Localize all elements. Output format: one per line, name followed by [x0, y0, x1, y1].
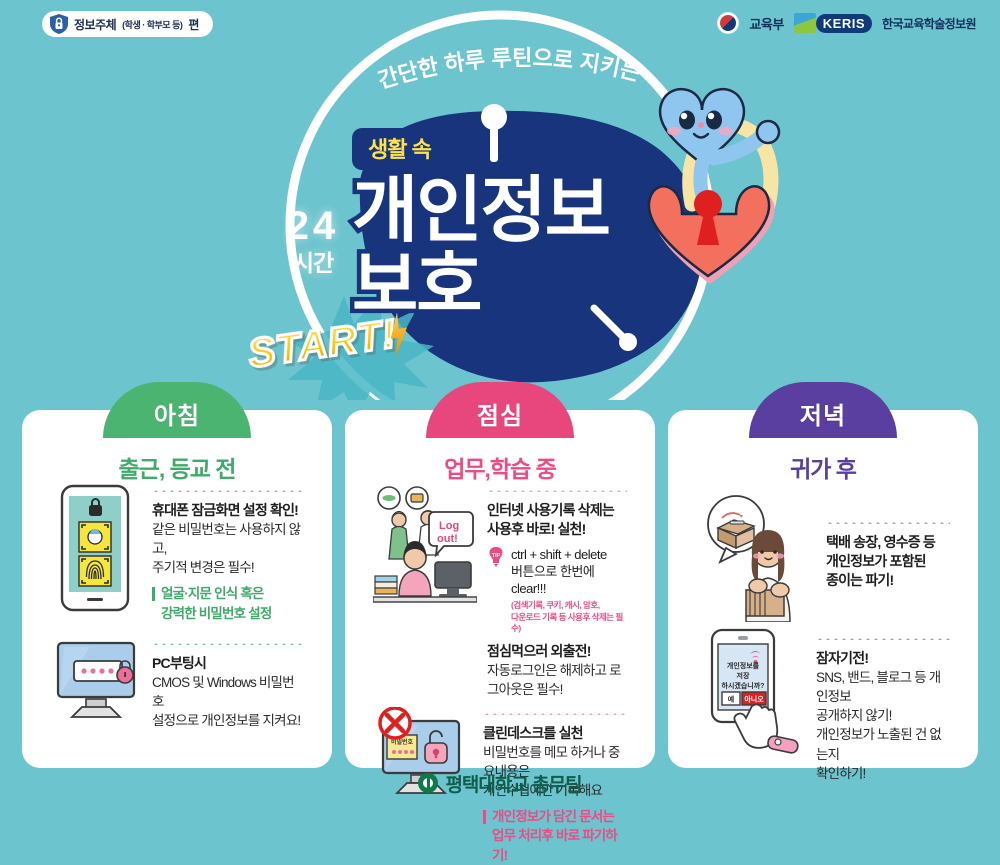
keris-logo: KERIS [794, 13, 872, 33]
svg-text:TIP: TIP [492, 553, 501, 559]
phone-save-dialog-icon: 개인정보를 저장 하시겠습니까? 예 아니오 [696, 628, 806, 783]
subject-pill: 정보주체 (학생 · 학부모 등) 편 [42, 11, 213, 37]
card-lunch-subtitle: 업무,학습 중 [345, 450, 655, 484]
ptu-emblem-icon [418, 773, 438, 793]
card-evening-body-2c: 개인정보가 노출된 건 없는지 [816, 725, 950, 763]
card-evening-block-1: 택배 송장, 영수증 등 개인정보가 포함된 종이는 파기! [668, 494, 978, 622]
card-lunch-headline-2: 점심먹으러 외출전! [487, 642, 627, 661]
card-evening-headline-2: 잠자기전! [816, 649, 950, 668]
svg-text:Log: Log [439, 520, 459, 532]
card-morning-body-1a: 같은 비밀번호는 사용하지 않고, [152, 520, 304, 558]
hero-tag: 생활 속 [352, 128, 447, 170]
card-evening-body-1c: 종이는 파기! [826, 571, 950, 590]
card-morning-note-1: 얼굴·지문 인식 혹은 강력한 비밀번호 설정 [152, 584, 304, 622]
card-morning: 아침 출근, 등교 전 [22, 410, 332, 768]
footer-label: 평택대학교 총무팀 [445, 770, 581, 797]
card-lunch-note-b: 업무 처리후 바로 파기하기! [492, 828, 617, 862]
card-morning-body-1b: 주기적 변경은 필수! [152, 558, 304, 577]
divider-dots [152, 643, 304, 645]
card-lunch-note-a: 개인정보가 담긴 문서는 [492, 809, 614, 824]
cards-section: 아침 출근, 등교 전 [0, 398, 1000, 766]
card-lunch: 점심 업무,학습 중 [345, 410, 655, 768]
svg-text:out!: out! [437, 533, 458, 545]
tip-small-1: (검색기록, 쿠키, 캐시, 암호, [511, 600, 600, 610]
shield-lock-icon [50, 14, 68, 34]
card-lunch-block-1: Log out! [345, 484, 655, 699]
smartphone-lockscreen-icon [50, 484, 142, 623]
divider-dots [487, 490, 627, 492]
card-lunch-headline-3: 클린데스크를 실천 [483, 724, 627, 743]
svg-text:아니오: 아니오 [744, 695, 764, 704]
card-morning-note-1b: 강력한 비밀번호 설정 [161, 606, 271, 621]
tip-line-2: 버튼으로 한번에 clear!!! [511, 564, 594, 596]
card-morning-body-2b: 설정으로 개인정보를 지켜요! [152, 711, 304, 730]
card-morning-block-1: 휴대폰 잠금화면 설정 확인! 같은 비밀번호는 사용하지 않고, 주기적 변경… [22, 484, 332, 623]
card-evening-body-2b: 공개하지 않기! [816, 706, 950, 725]
card-morning-body-2a: CMOS 및 Windows 비밀번호 [152, 673, 304, 711]
divider-dots [152, 490, 304, 492]
badge-24-unit: 시간 [268, 252, 358, 275]
hero-title-line1: 개인정보 [352, 176, 672, 247]
card-evening-block-2: 개인정보를 저장 하시겠습니까? 예 아니오 잠 [668, 628, 978, 783]
subject-pill-sub: (학생 · 학부모 등) [122, 18, 182, 31]
clock-pin-icon [588, 302, 644, 358]
subject-pill-tail: 편 [188, 16, 199, 33]
hero-section: 간단한 하루 루틴으로 지키는 24 시간 START! 생활 속 개인정보 보… [0, 0, 1000, 400]
keris-square-icon [794, 13, 816, 33]
taegeuk-icon [717, 12, 739, 34]
svg-text:하시겠습니까?: 하시겠습니까? [722, 681, 765, 690]
top-bar: 정보주체 (학생 · 학부모 등) 편 교육부 KERIS 한국교육학술정보원 [0, 0, 1000, 56]
tip-line-1: ctrl + shift + delete [511, 547, 607, 562]
card-evening-body-1a: 택배 송장, 영수증 등 [826, 533, 950, 552]
svg-text:개인정보를: 개인정보를 [727, 661, 760, 670]
footer: 평택대학교 총무팀 [0, 766, 1000, 800]
keris-badge-text: KERIS [816, 14, 872, 33]
heart-mascot-icon [640, 72, 810, 302]
card-lunch-tip: TIP ctrl + shift + delete 버튼으로 한번에 clear… [487, 546, 627, 635]
subject-pill-main: 정보주체 [74, 16, 116, 33]
card-lunch-headline-1b: 사용후 바로! 실천! [487, 520, 627, 539]
card-lunch-tip-text: ctrl + shift + delete 버튼으로 한번에 clear!!! … [511, 546, 627, 635]
divider-dots [483, 713, 627, 715]
svg-text:저장: 저장 [737, 671, 750, 680]
card-lunch-headline-1a: 인터넷 사용기록 삭제는 [487, 501, 627, 520]
parcel-box-woman-icon [696, 494, 816, 622]
card-evening: 저녁 귀가 후 [668, 410, 978, 768]
keris-label: 한국교육학술정보원 [882, 15, 976, 32]
card-evening-body-1b: 개인정보가 포함된 [826, 552, 950, 571]
card-morning-headline-1: 휴대폰 잠금화면 설정 확인! [152, 501, 304, 520]
card-morning-subtitle: 출근, 등교 전 [22, 450, 332, 484]
badge-24-number: 24 [268, 206, 358, 246]
card-morning-headline-2: PC부팅시 [152, 654, 304, 673]
desktop-password-icon [50, 637, 142, 730]
svg-text:예: 예 [728, 695, 734, 704]
gov-logos: 교육부 KERIS 한국교육학술정보원 [717, 12, 976, 34]
card-lunch-body-2: 자동로그인은 해제하고 로그아웃은 필수! [487, 661, 627, 699]
tip-small-2: 다운로드 기록 등 사용후 삭제는 필수) [511, 612, 623, 633]
card-morning-note-1a: 얼굴·지문 인식 혹은 [161, 586, 264, 601]
card-evening-body-2a: SNS, 밴드, 블로그 등 개인정보 [816, 668, 950, 706]
card-evening-subtitle: 귀가 후 [668, 450, 978, 484]
divider-dots [816, 638, 950, 640]
moe-label: 교육부 [749, 14, 783, 33]
office-logout-icon: Log out! [373, 484, 477, 699]
card-lunch-note: 개인정보가 담긴 문서는 업무 처리후 바로 파기하기! [483, 807, 627, 864]
card-morning-block-2: PC부팅시 CMOS 및 Windows 비밀번호 설정으로 개인정보를 지켜요… [22, 637, 332, 730]
divider-dots [826, 522, 950, 524]
badge-24-hours: 24 시간 [268, 206, 358, 275]
hero-title-block: 생활 속 개인정보 보호 [352, 128, 672, 321]
tip-bulb-icon: TIP [487, 546, 505, 635]
